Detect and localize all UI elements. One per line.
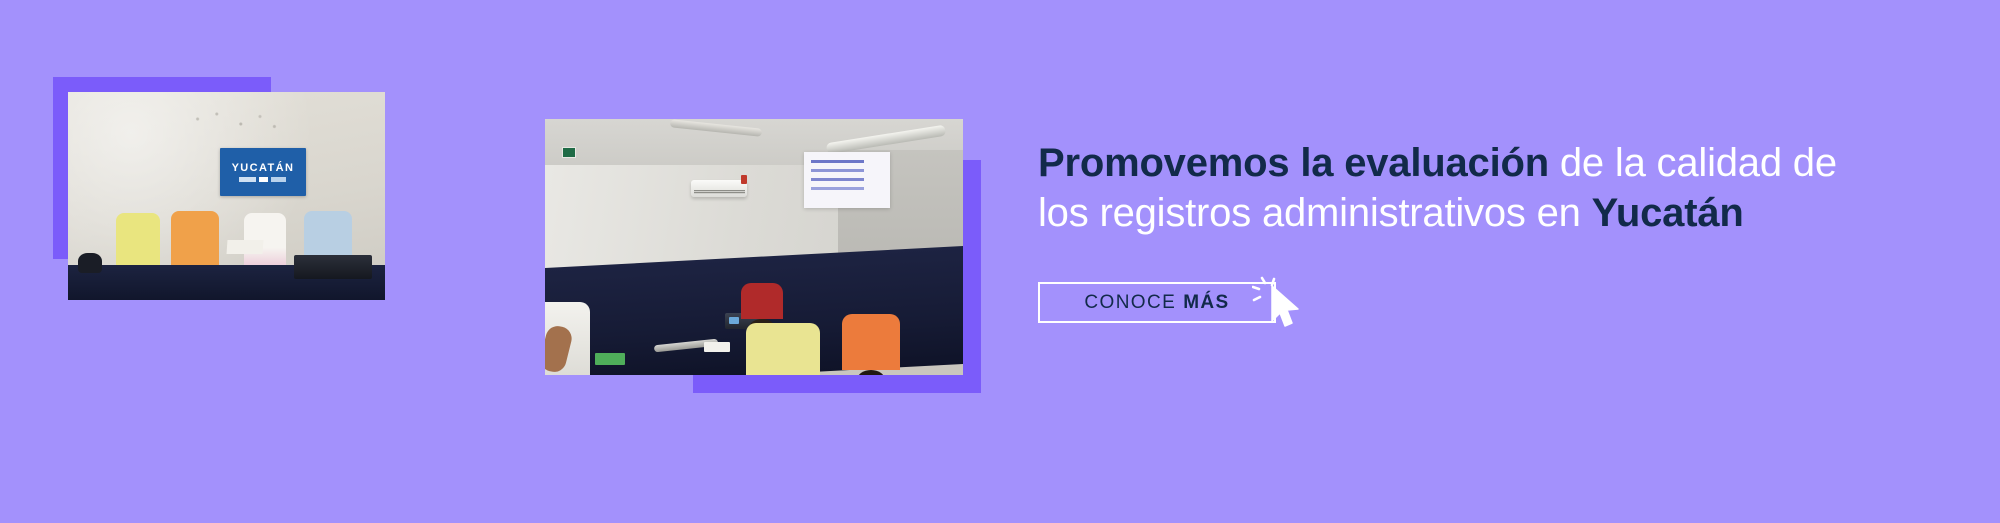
photo-chair — [78, 253, 102, 273]
logo-mark-b — [259, 177, 268, 182]
wall-specks — [188, 109, 283, 134]
photo-laptop — [294, 255, 372, 279]
headline: Promovemos la evaluación de la calidad d… — [1038, 138, 1968, 238]
headline-part-bold-2: Yucatán — [1592, 191, 1744, 235]
projection-screen — [804, 152, 890, 208]
air-conditioner — [691, 180, 747, 197]
person-torso — [116, 213, 160, 271]
person-hair — [857, 370, 885, 375]
person-torso — [171, 211, 219, 271]
table-papers — [704, 342, 730, 352]
yucatan-banner-sign: YUCATÁN — [220, 148, 306, 196]
headline-part-light-1: de la calidad de — [1549, 141, 1837, 185]
group-photo-yucatan-banner: YUCATÁN — [68, 92, 385, 300]
headline-part-light-2: los registros administrativos en — [1038, 191, 1592, 235]
person-torso — [746, 323, 820, 375]
conoce-mas-button[interactable]: CONOCE MÁS — [1038, 282, 1276, 323]
headline-part-bold-1: Promovemos la evaluación — [1038, 141, 1549, 185]
photo-papers — [226, 240, 263, 254]
person-torso — [741, 283, 783, 319]
meeting-room-photo — [545, 119, 963, 375]
person-torso — [842, 314, 900, 370]
logo-mark-a — [239, 177, 256, 182]
exit-sign — [562, 147, 576, 158]
cta-wrapper: CONOCE MÁS — [1038, 282, 1276, 323]
cta-label-bold: MÁS — [1183, 292, 1229, 314]
table-folder — [595, 353, 625, 365]
banner-content: Promovemos la evaluación de la calidad d… — [1038, 138, 1968, 323]
banner-logos — [239, 177, 286, 182]
cta-label-light: CONOCE — [1084, 292, 1176, 314]
yucatan-banner-text: YUCATÁN — [232, 162, 295, 174]
promo-banner: YUCATÁN — [0, 0, 2000, 523]
fire-alarm-icon — [741, 175, 747, 184]
logo-mark-c — [271, 177, 286, 182]
